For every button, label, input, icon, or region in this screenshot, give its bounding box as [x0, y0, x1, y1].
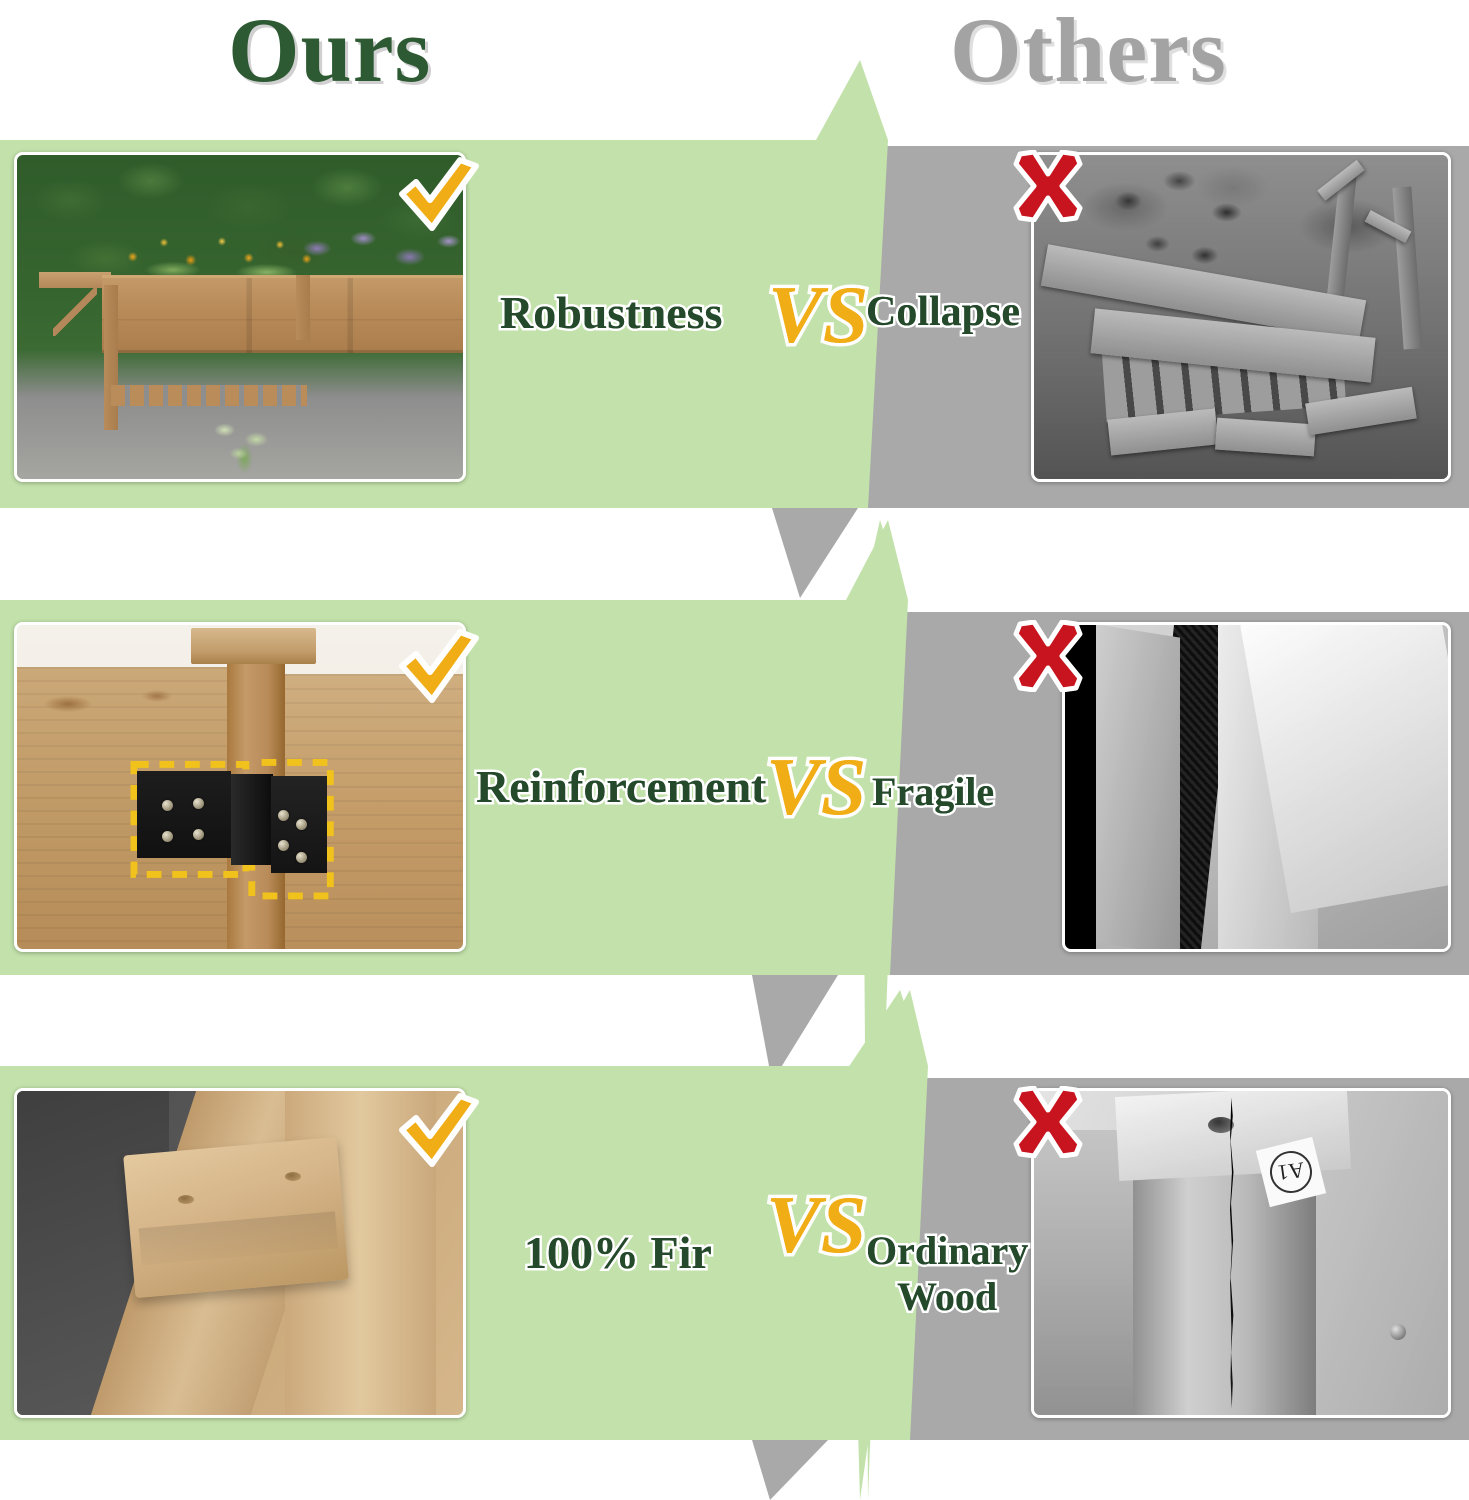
x-icon — [1010, 150, 1086, 222]
vs-icon-row2-fill: VS — [766, 740, 866, 834]
label-ours-row2-fill: Reinforcement — [476, 760, 766, 813]
comparison-infographic: Ours Others — [0, 0, 1469, 1500]
label-others-row2-fill: Fragile — [872, 768, 994, 815]
grade-sticker-text: A1 — [1267, 1148, 1314, 1195]
scene-cracked-wood-post: A1 — [1034, 1091, 1448, 1415]
scene-fragile-joint — [1065, 625, 1448, 949]
scene-collapsed-planter — [1034, 155, 1448, 479]
page-title-ours: Ours — [228, 2, 431, 99]
others-photo-row1 — [1031, 152, 1451, 482]
x-icon — [1010, 1086, 1086, 1158]
others-photo-row2 — [1062, 622, 1451, 952]
page-title-others: Others — [950, 2, 1227, 99]
check-icon — [396, 1092, 480, 1170]
check-icon — [396, 628, 480, 706]
others-photo-row3: A1 — [1031, 1088, 1451, 1418]
label-ours-row3-fill: 100% Fir — [524, 1226, 712, 1279]
vs-icon-row1-fill: VS — [768, 268, 868, 362]
x-icon — [1010, 620, 1086, 692]
label-others-row3-fill: Ordinary Wood — [866, 1228, 1028, 1320]
vs-icon-row3-fill: VS — [766, 1178, 866, 1272]
label-others-row1-fill: Collapse — [866, 288, 1020, 336]
check-icon — [396, 156, 480, 234]
label-ours-row1-fill: Robustness — [500, 286, 722, 339]
